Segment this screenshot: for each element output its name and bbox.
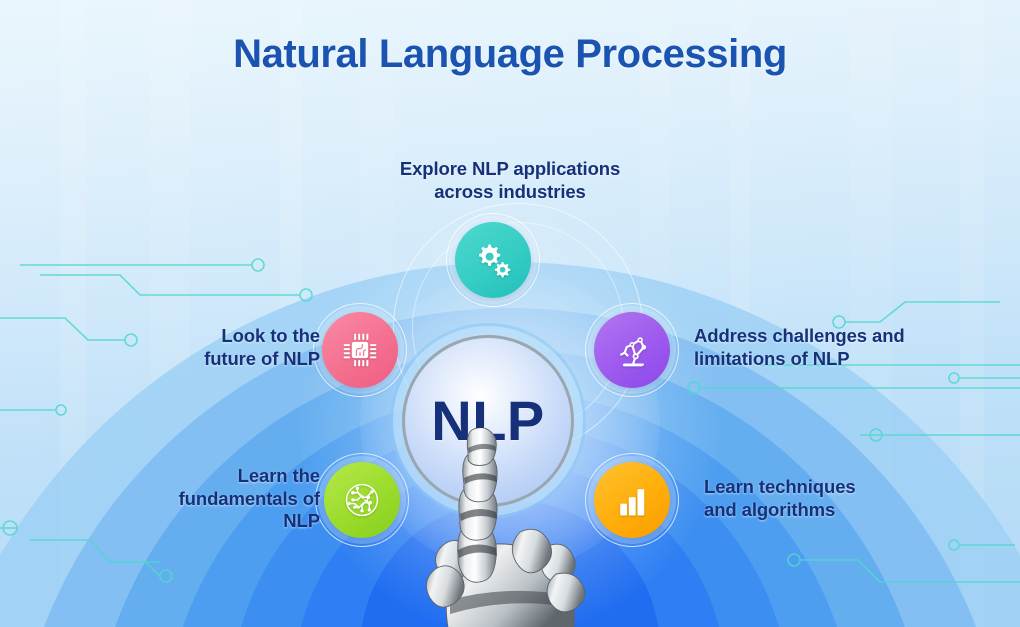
neural-network-icon xyxy=(342,480,382,520)
bar-chart-icon xyxy=(612,480,652,520)
background-bands xyxy=(0,0,1020,627)
radiating-rings xyxy=(0,0,1020,627)
node-applications[interactable] xyxy=(455,222,531,298)
page-title: Natural Language Processing xyxy=(0,32,1020,77)
node-future[interactable] xyxy=(322,312,398,388)
label-techniques: Learn techniques and algorithms xyxy=(704,476,1004,521)
center-hub-label: NLP xyxy=(431,393,545,449)
node-techniques[interactable] xyxy=(594,462,670,538)
circuit-trace-decoration xyxy=(0,0,1020,627)
infographic-canvas: Natural Language Processing NLP xyxy=(0,0,1020,627)
center-hub[interactable]: NLP xyxy=(402,335,574,507)
microchip-icon xyxy=(340,330,380,370)
label-future: Look to the future of NLP xyxy=(40,325,320,370)
label-challenges: Address challenges and limitations of NL… xyxy=(694,325,994,370)
robot-arm-icon xyxy=(612,330,652,370)
gears-icon xyxy=(473,240,513,280)
label-fundamentals: Learn the fundamentals of NLP xyxy=(40,465,320,533)
node-challenges[interactable] xyxy=(594,312,670,388)
node-fundamentals[interactable] xyxy=(324,462,400,538)
label-applications: Explore NLP applications across industri… xyxy=(0,158,1020,203)
